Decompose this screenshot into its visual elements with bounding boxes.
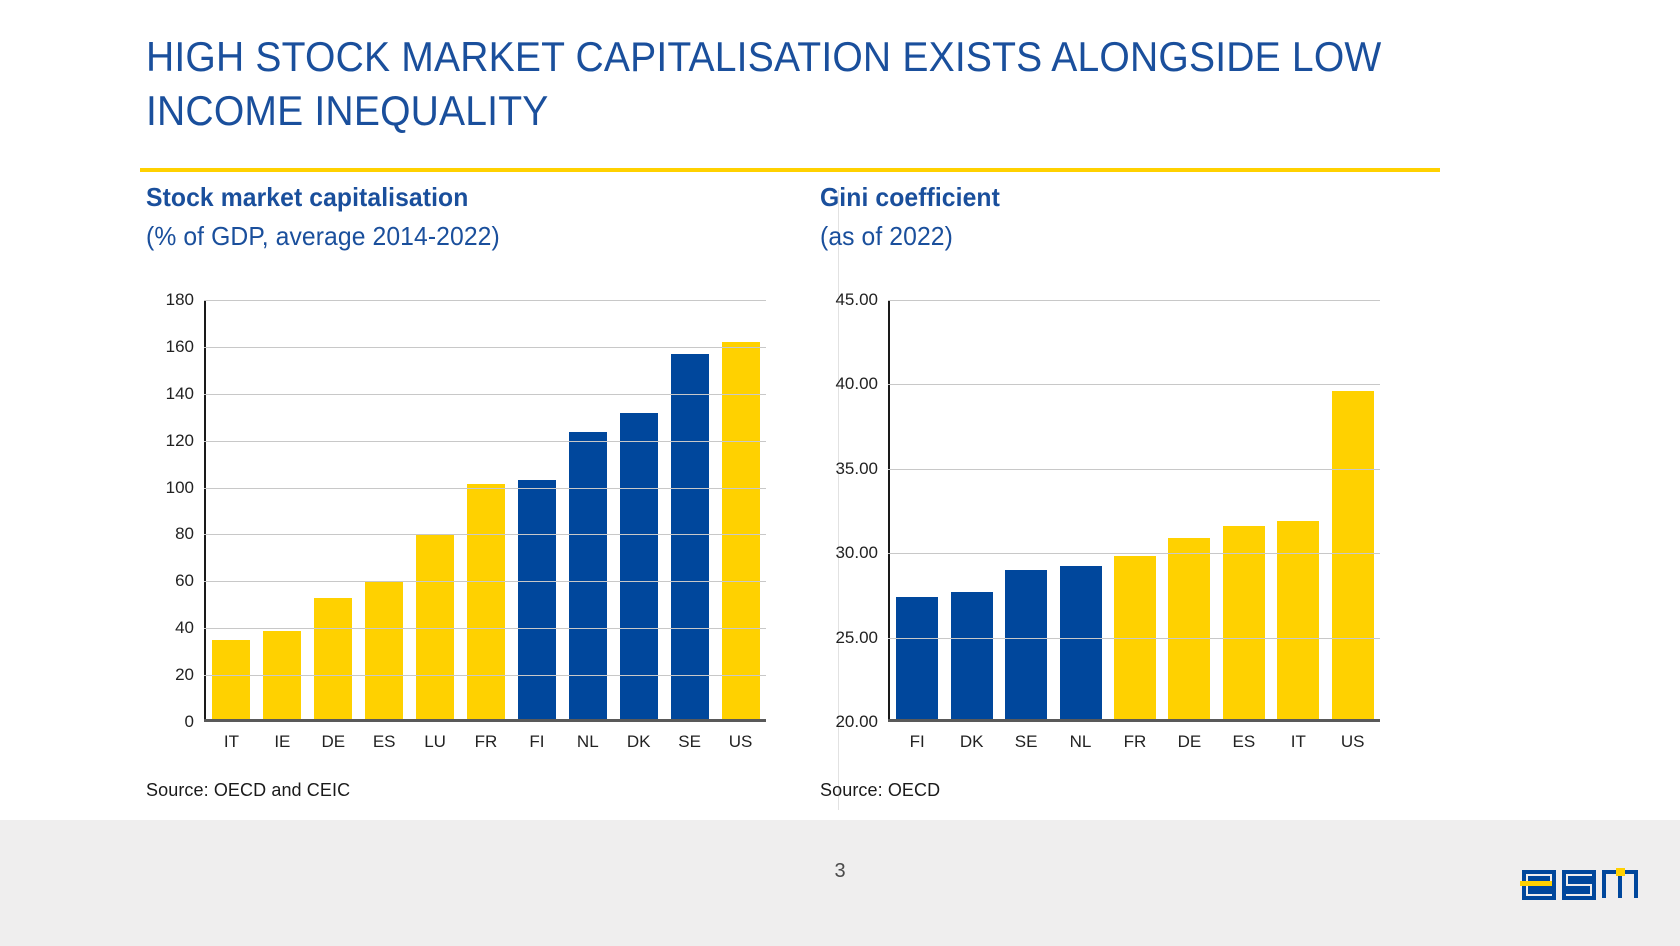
bar-nl [1060, 566, 1102, 719]
y-axis-tick-label: 0 [185, 712, 194, 732]
gridline [204, 488, 766, 489]
x-axis-label-it: IT [1271, 732, 1325, 752]
left-chart-x-axis [204, 719, 766, 722]
y-axis-tick-label: 20.00 [835, 712, 878, 732]
x-axis-label-nl: NL [562, 732, 613, 752]
bar-us [722, 342, 760, 719]
y-axis-tick-label: 20 [175, 665, 194, 685]
y-axis-tick-label: 25.00 [835, 628, 878, 648]
bar-slot [890, 300, 944, 719]
bar-it [212, 640, 250, 719]
gridline [888, 638, 1380, 639]
gridline [204, 675, 766, 676]
bar-slot [257, 300, 308, 719]
x-axis-label-fr: FR [1108, 732, 1162, 752]
bar-it [1277, 521, 1319, 719]
x-axis-label-us: US [1326, 732, 1380, 752]
bar-slot [1217, 300, 1271, 719]
bar-slot [1271, 300, 1325, 719]
bar-slot [410, 300, 461, 719]
gridline [204, 628, 766, 629]
left-chart-bars [206, 300, 766, 719]
gridline [204, 300, 766, 301]
right-chart-source: Source: OECD [820, 780, 940, 801]
y-axis-tick-label: 120 [166, 431, 194, 451]
x-axis-label-se: SE [664, 732, 715, 752]
bar-es [1223, 526, 1265, 719]
x-axis-label-es: ES [359, 732, 410, 752]
bar-de [1168, 538, 1210, 719]
gridline [204, 441, 766, 442]
bar-slot [613, 300, 664, 719]
gridline [888, 300, 1380, 301]
y-axis-tick-label: 40 [175, 618, 194, 638]
bar-slot [1108, 300, 1162, 719]
x-axis-label-us: US [715, 732, 766, 752]
bar-slot [999, 300, 1053, 719]
footer: 3 [0, 820, 1680, 946]
bar-es [365, 582, 403, 719]
title-underline-rule [140, 168, 1440, 172]
right-chart-x-axis [888, 719, 1380, 722]
left-chart-title: Stock market capitalisation [146, 182, 792, 213]
right-chart: FIDKSENLFRDEESITUS 20.0025.0030.0035.004… [820, 292, 1380, 762]
bar-slot [461, 300, 512, 719]
gridline [204, 347, 766, 348]
gridline [888, 553, 1380, 554]
gridline [888, 384, 1380, 385]
left-chart-x-labels: ITIEDEESLUFRFINLDKSEUS [206, 732, 766, 752]
bar-fr [467, 484, 505, 719]
y-axis-tick-label: 30.00 [835, 543, 878, 563]
right-chart-subtitle: (as of 2022) [820, 221, 1466, 252]
page-title: HIGH STOCK MARKET CAPITALISATION EXISTS … [146, 30, 1383, 138]
y-axis-tick-label: 45.00 [835, 290, 878, 310]
left-chart-source: Source: OECD and CEIC [146, 780, 350, 801]
bar-slot [359, 300, 410, 719]
x-axis-label-de: DE [308, 732, 359, 752]
x-axis-label-dk: DK [613, 732, 664, 752]
bar-de [314, 598, 352, 719]
panel-gini-coefficient: Gini coefficient (as of 2022) FIDKSENLFR… [820, 182, 1500, 762]
y-axis-tick-label: 100 [166, 478, 194, 498]
x-axis-label-it: IT [206, 732, 257, 752]
gridline [888, 469, 1380, 470]
right-chart-x-labels: FIDKSENLFRDEESITUS [890, 732, 1380, 752]
left-chart-subtitle: (% of GDP, average 2014-2022) [146, 221, 792, 252]
bar-dk [951, 592, 993, 719]
y-axis-tick-label: 60 [175, 571, 194, 591]
x-axis-label-fi: FI [511, 732, 562, 752]
bar-se [671, 354, 709, 719]
y-axis-tick-label: 80 [175, 524, 194, 544]
y-axis-tick-label: 140 [166, 384, 194, 404]
esm-logo [1520, 858, 1640, 904]
bar-slot [562, 300, 613, 719]
x-axis-label-fr: FR [461, 732, 512, 752]
x-axis-label-ie: IE [257, 732, 308, 752]
bar-se [1005, 570, 1047, 719]
y-axis-tick-label: 40.00 [835, 374, 878, 394]
bar-slot [944, 300, 998, 719]
y-axis-tick-label: 35.00 [835, 459, 878, 479]
bar-slot [1162, 300, 1216, 719]
gridline [204, 394, 766, 395]
y-axis-tick-label: 180 [166, 290, 194, 310]
right-chart-title: Gini coefficient [820, 182, 1466, 213]
bar-slot [1053, 300, 1107, 719]
left-chart-plot-area: ITIEDEESLUFRFINLDKSEUS 02040608010012014… [204, 300, 766, 722]
page-number: 3 [0, 860, 1680, 883]
bar-slot [206, 300, 257, 719]
bar-slot [715, 300, 766, 719]
bar-slot [664, 300, 715, 719]
y-axis-tick-label: 160 [166, 337, 194, 357]
panel-stock-market-capitalisation: Stock market capitalisation (% of GDP, a… [146, 182, 826, 762]
bar-dk [620, 413, 658, 719]
left-chart: ITIEDEESLUFRFINLDKSEUS 02040608010012014… [146, 292, 766, 762]
x-axis-label-se: SE [999, 732, 1053, 752]
x-axis-label-dk: DK [944, 732, 998, 752]
bar-fi [896, 597, 938, 719]
bar-slot [511, 300, 562, 719]
x-axis-label-fi: FI [890, 732, 944, 752]
x-axis-label-nl: NL [1053, 732, 1107, 752]
x-axis-label-lu: LU [410, 732, 461, 752]
gridline [204, 581, 766, 582]
bar-us [1332, 391, 1374, 719]
right-chart-plot-area: FIDKSENLFRDEESITUS 20.0025.0030.0035.004… [888, 300, 1380, 722]
right-chart-bars [890, 300, 1380, 719]
bar-lu [416, 535, 454, 719]
bar-slot [308, 300, 359, 719]
x-axis-label-de: DE [1162, 732, 1216, 752]
x-axis-label-es: ES [1217, 732, 1271, 752]
bar-slot [1326, 300, 1380, 719]
gridline [204, 534, 766, 535]
bar-fi [518, 480, 556, 719]
